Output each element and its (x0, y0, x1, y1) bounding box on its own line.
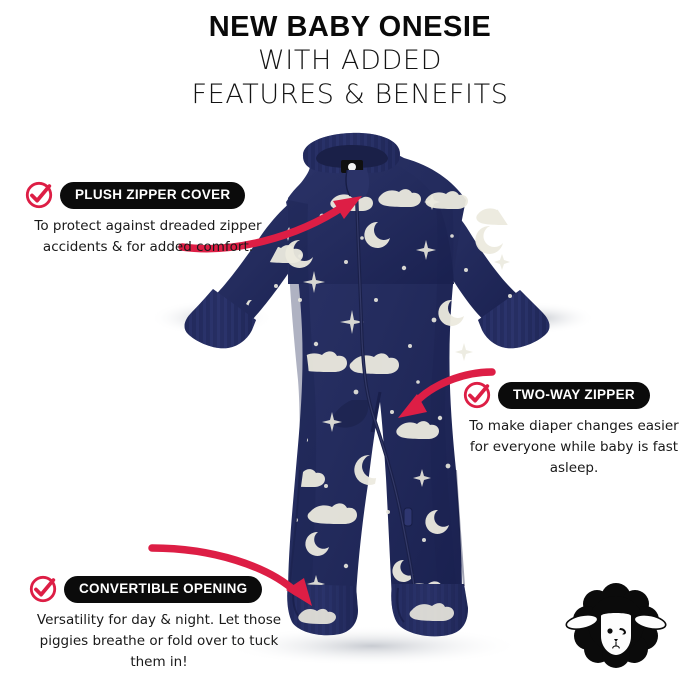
callout-label-convertible-opening: CONVERTIBLE OPENING (64, 576, 262, 603)
check-circle-icon (24, 180, 54, 210)
callout-two-way-zipper: TWO-WAY ZIPPER To make diaper changes ea… (462, 380, 700, 479)
sheep-logo (562, 578, 670, 670)
callout-description-plush-zipper-cover: To protect against dreaded zipper accide… (30, 216, 266, 258)
callout-label-two-way-zipper: TWO-WAY ZIPPER (498, 382, 650, 409)
check-circle-icon (462, 380, 492, 410)
badge-row: CONVERTIBLE OPENING (28, 574, 298, 604)
sheep-face (601, 613, 631, 655)
badge-row: TWO-WAY ZIPPER (462, 380, 700, 410)
callout-description-convertible-opening: Versatility for day & night. Let those p… (30, 610, 288, 673)
infographic-canvas: NEW BABY ONESIE WITH ADDED FEATURES & BE… (0, 0, 700, 700)
badge-row: PLUSH ZIPPER COVER (24, 180, 276, 210)
callout-plush-zipper-cover: PLUSH ZIPPER COVER To protect against dr… (24, 180, 276, 258)
callout-label-plush-zipper-cover: PLUSH ZIPPER COVER (60, 182, 245, 209)
callout-convertible-opening: CONVERTIBLE OPENING Versatility for day … (28, 574, 298, 673)
check-circle-icon (28, 574, 58, 604)
callout-description-two-way-zipper: To make diaper changes easier for everyo… (460, 416, 688, 479)
collar (303, 133, 400, 174)
